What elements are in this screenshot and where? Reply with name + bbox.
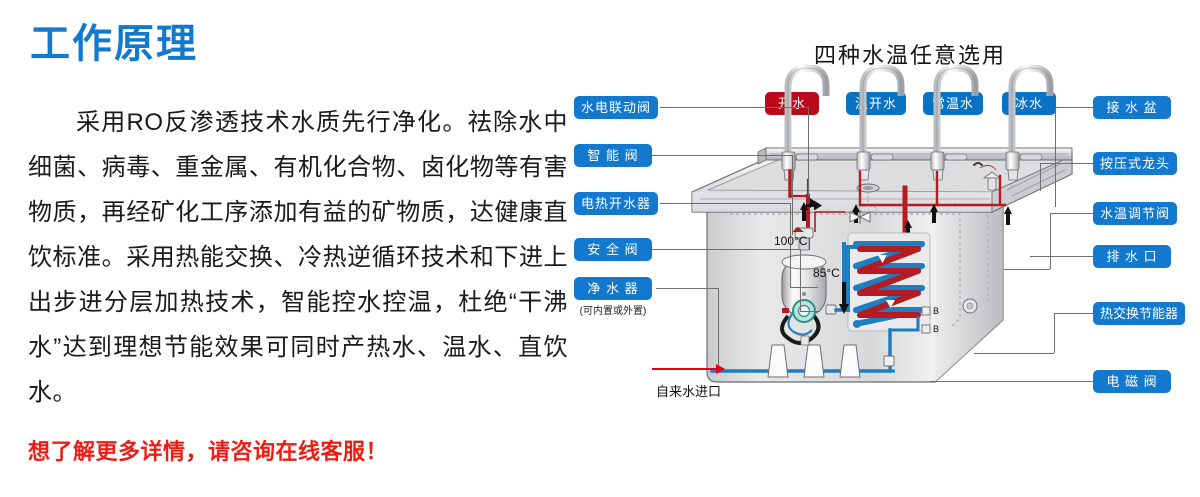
inlet-arrow-icon	[652, 368, 724, 370]
label-water-electric-valve[interactable]: 水电联动阀	[574, 96, 658, 119]
leader-heat-exchanger	[1054, 313, 1093, 314]
left-text-column: 工作原理 采用RO反渗透技术水质先行净化。祛除水中细菌、病毒、重金属、有机化合物…	[0, 0, 580, 497]
annotation-85c: 85°C	[813, 266, 840, 280]
label-basin[interactable]: 接 水 盆	[1093, 96, 1171, 119]
leader-solenoid	[930, 381, 1093, 382]
leader-safety-valve-v	[800, 249, 801, 311]
leader-smart-valve	[652, 155, 792, 156]
leader-push-faucet-v	[1040, 163, 1041, 191]
label-solenoid-valve[interactable]: 电 磁 阀	[1093, 370, 1171, 393]
leader-safety-valve	[652, 249, 800, 250]
leader-heat-exchanger-h2	[974, 353, 1054, 354]
working-principle-page: 工作原理 采用RO反渗透技术水质先行净化。祛除水中细菌、病毒、重金属、有机化合物…	[0, 0, 1200, 497]
leader-basin-v	[1055, 107, 1056, 207]
cabinet-feet	[768, 345, 860, 377]
cta-text: 想了解更多详情，请咨询在线客服！	[28, 434, 388, 466]
svg-text:B: B	[933, 324, 939, 334]
leader-purifier	[656, 288, 718, 289]
leader-boiler-h2	[790, 287, 818, 288]
svg-text:B: B	[933, 306, 939, 316]
leader-boiler	[660, 203, 790, 204]
description-paragraph: 采用RO反渗透技术水质先行净化。祛除水中细菌、病毒、重金属、有机化合物、卤化物等…	[28, 100, 568, 415]
leader-temp-valve-v	[1050, 213, 1051, 269]
label-smart-valve[interactable]: 智 能 阀	[574, 144, 652, 167]
label-electric-boiler[interactable]: 电热开水器	[574, 192, 658, 215]
leader-heat-exchanger-v	[1054, 313, 1055, 353]
leader-temp-valve	[1050, 213, 1093, 214]
page-title: 工作原理	[30, 22, 198, 66]
label-safety-valve[interactable]: 安 全 阀	[574, 238, 652, 261]
inlet-caption: 自来水进口	[656, 381, 721, 400]
leader-drain	[1030, 256, 1093, 257]
label-push-faucet[interactable]: 按压式龙头	[1093, 152, 1177, 175]
label-drain-outlet[interactable]: 排 水 口	[1093, 245, 1171, 268]
leader-smart-valve-v	[792, 155, 793, 235]
leader-purifier-v	[718, 288, 719, 372]
heat-exchanger-coil	[848, 233, 930, 331]
label-temperature-valve[interactable]: 水温调节阀	[1093, 202, 1177, 225]
leader-safety-valve-h2	[800, 311, 820, 312]
label-heat-exchanger[interactable]: 热交换节能器	[1093, 302, 1185, 325]
water-dispenser-diagram: 四种水温任意选用 开水 温开水 常温水 冰水	[560, 0, 1200, 497]
leader-push-faucet	[1040, 163, 1093, 164]
leader-water-electric-valve-v	[808, 107, 809, 197]
leader-boiler-v	[790, 203, 791, 287]
leader-basin	[1055, 107, 1093, 108]
leader-water-electric-valve	[660, 107, 808, 108]
leader-temp-valve-h2	[1004, 269, 1050, 270]
label-water-purifier-note: (可内置或外置)	[574, 302, 652, 317]
label-water-purifier[interactable]: 净 水 器	[574, 277, 652, 300]
